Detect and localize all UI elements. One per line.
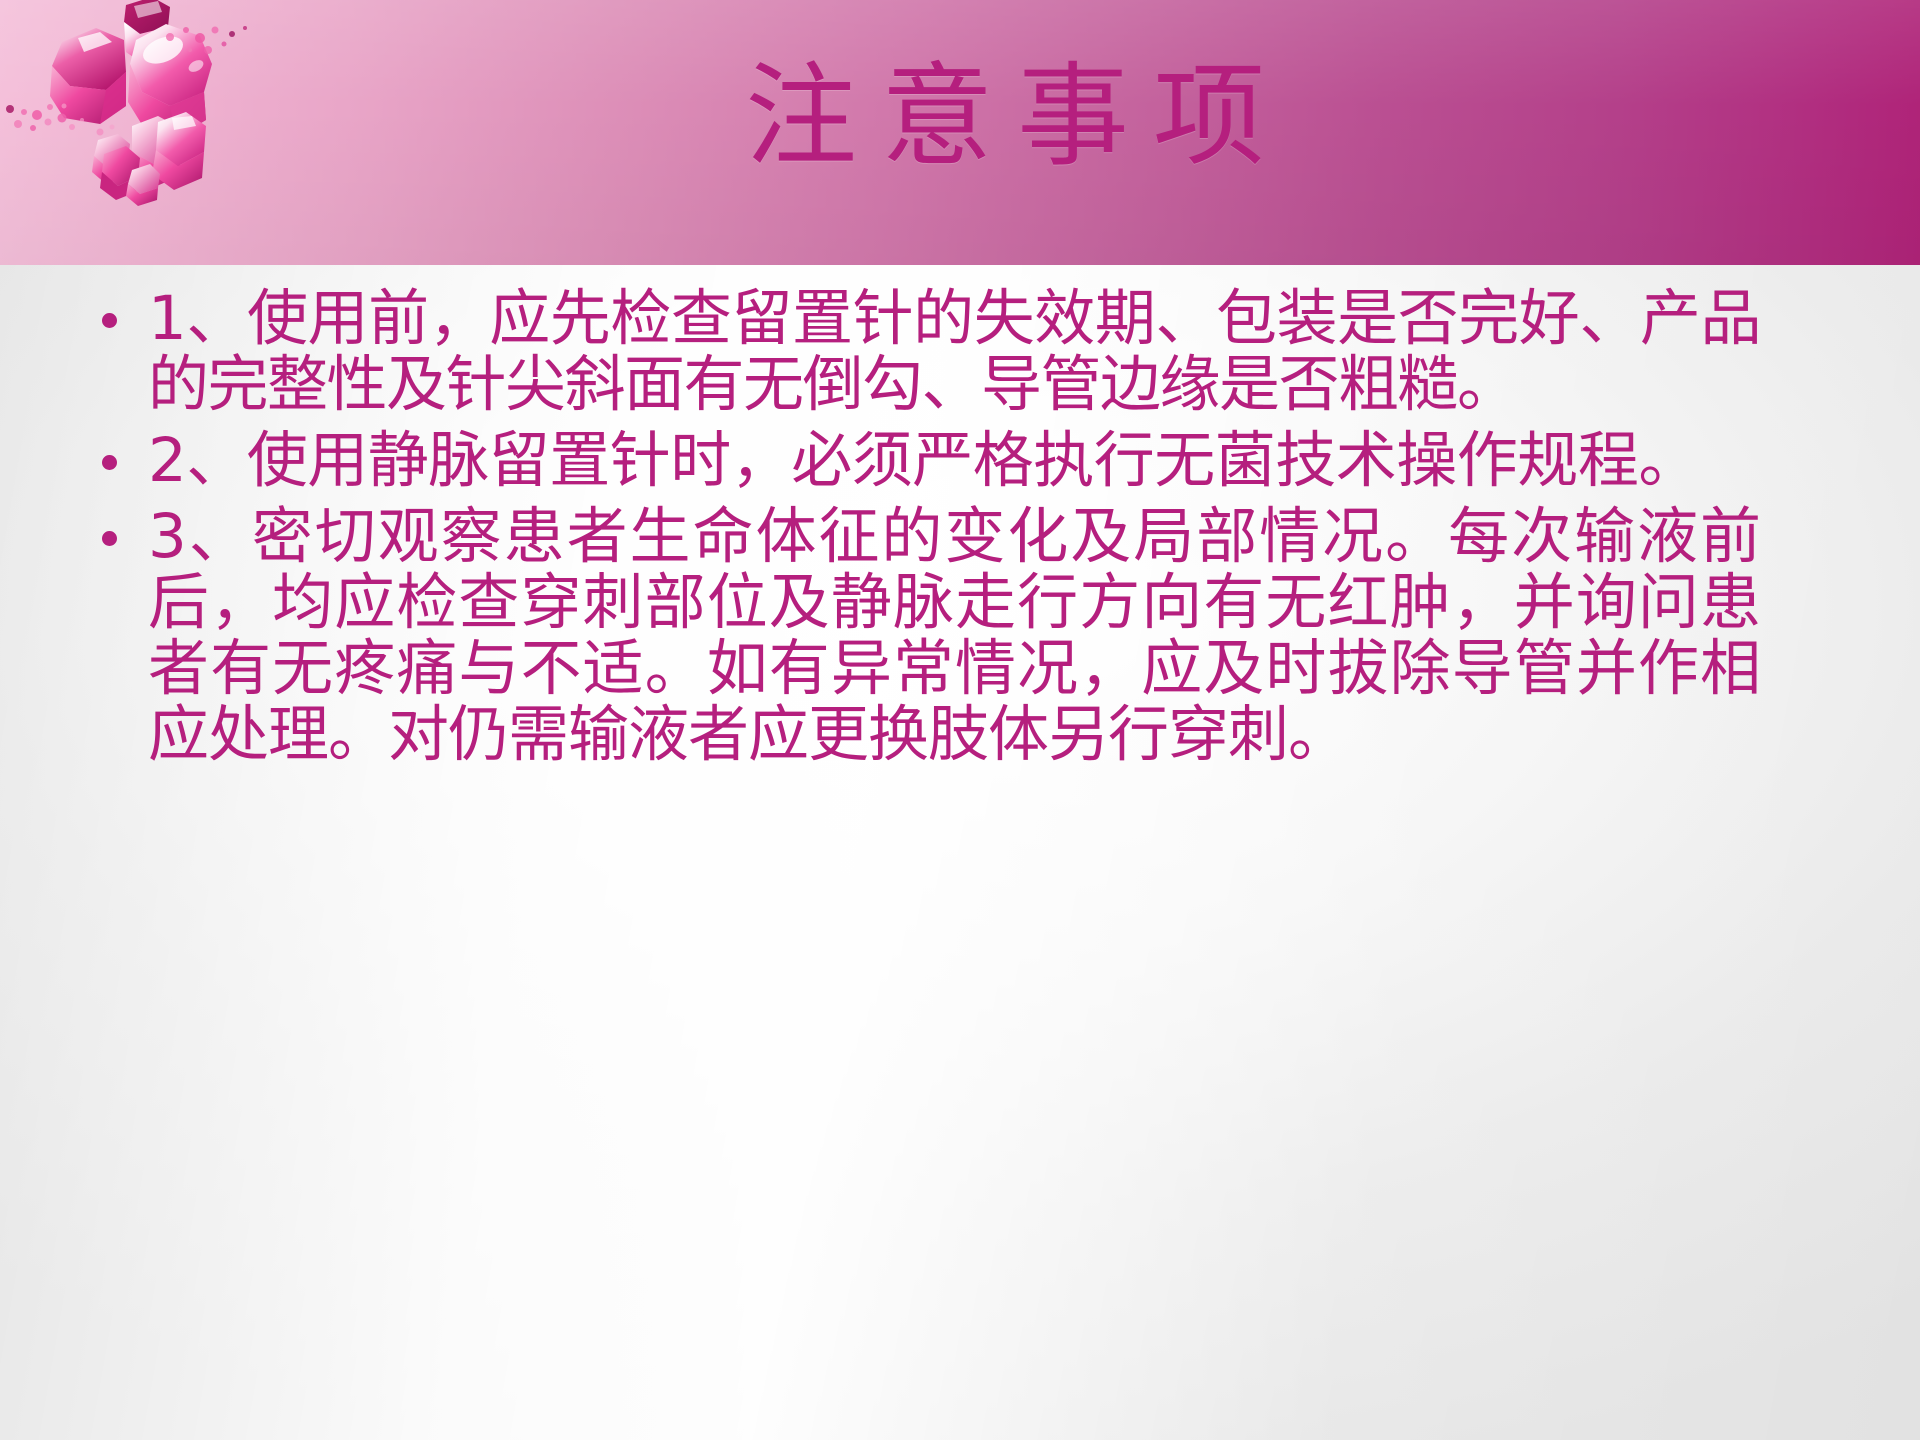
slide-body: 1、使用前，应先检查留置针的失效期、包装是否完好、产品的完整性及针尖斜面有无倒勾… — [92, 286, 1852, 768]
presentation-slide: 注意事项 — [0, 0, 1920, 1440]
bullet-dot-icon — [92, 428, 148, 494]
title-banner: 注意事项 — [0, 0, 1920, 265]
bullet-dot-icon — [92, 286, 148, 352]
bullet-text-1: 1、使用前，应先检查留置针的失效期、包装是否完好、产品的完整性及针尖斜面有无倒勾… — [148, 286, 1760, 418]
bullet-text-3: 3、密切观察患者生命体征的变化及局部情况。每次输液前后，均应检查穿刺部位及静脉走… — [148, 504, 1760, 768]
bullet-item-3: 3、密切观察患者生命体征的变化及局部情况。每次输液前后，均应检查穿刺部位及静脉走… — [92, 504, 1852, 768]
bullet-item-1: 1、使用前，应先检查留置针的失效期、包装是否完好、产品的完整性及针尖斜面有无倒勾… — [92, 286, 1852, 418]
bullet-item-2: 2、使用静脉留置针时，必须严格执行无菌技术操作规程。 — [92, 428, 1852, 494]
bullet-dot-icon — [92, 504, 148, 570]
bullet-text-2: 2、使用静脉留置针时，必须严格执行无菌技术操作规程。 — [148, 428, 1760, 494]
page-title: 注意事项 — [0, 52, 1920, 184]
